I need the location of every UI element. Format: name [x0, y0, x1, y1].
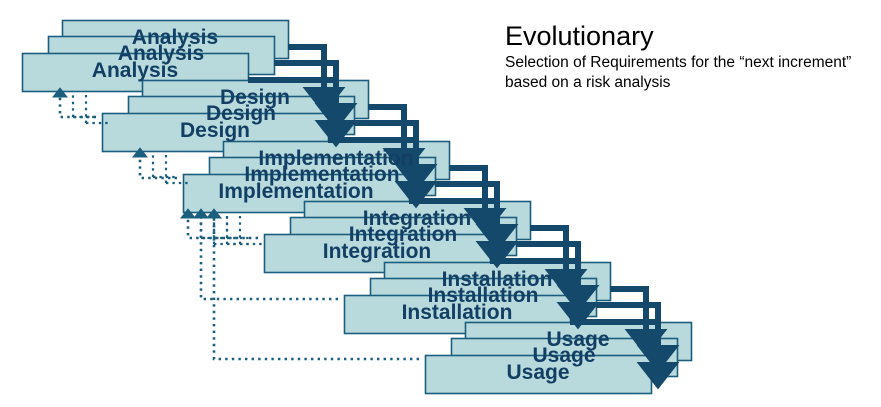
feedback-arrow-design-to-analysis — [60, 95, 96, 117]
feedback-stub-installation-1 — [214, 212, 236, 238]
feedback-arrow-integration-to-implementation — [188, 216, 258, 238]
legend: Evolutionary Selection of Requirements f… — [505, 22, 875, 92]
diagram-canvas: AnalysisAnalysisAnalysisDesignDesignDesi… — [0, 0, 881, 407]
legend-description: Selection of Requirements for the “next … — [505, 53, 875, 92]
feedback-stub-implementation-1 — [153, 151, 175, 177]
feedback-stub-usage-1 — [227, 212, 249, 238]
feedback-stub-integration-1 — [201, 212, 223, 238]
stage-box-usage-3 — [426, 356, 652, 394]
feedback-arrow-implementation-to-design — [140, 155, 177, 178]
legend-title: Evolutionary — [505, 22, 875, 50]
feedback-stub-design-1 — [73, 91, 95, 117]
